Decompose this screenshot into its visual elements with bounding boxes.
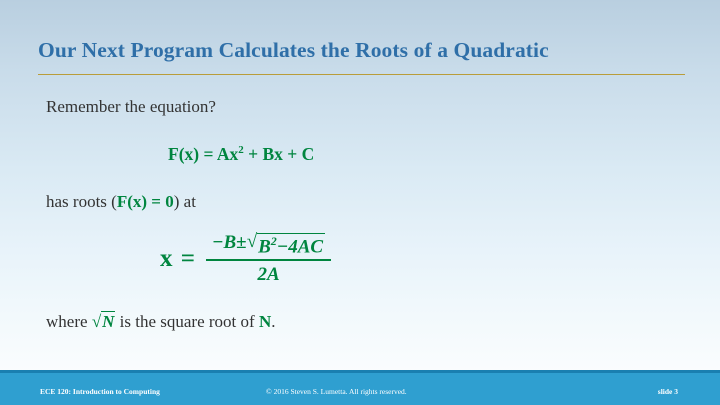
body-line-remember: Remember the equation?: [46, 97, 216, 117]
page-title: Our Next Program Calculates the Roots of…: [38, 38, 688, 63]
has-roots-highlight: F(x) = 0: [117, 192, 174, 211]
quadratic-formula: x = −B± √ B2−4AC 2A: [160, 232, 331, 286]
where-prefix: where: [46, 312, 92, 331]
footer-course: ECE 120: Introduction to Computing: [40, 387, 160, 396]
formula-lhs: x =: [160, 245, 196, 273]
where-var: N: [259, 312, 271, 331]
has-roots-prefix: has roots (: [46, 192, 117, 211]
where-post: .: [271, 312, 275, 331]
body-line-has-roots: has roots (F(x) = 0) at: [46, 192, 196, 212]
equation-quadratic-lead: F(x) = Ax: [168, 144, 238, 164]
formula-fraction: −B± √ B2−4AC 2A: [206, 232, 331, 286]
radical-sign-icon: √: [247, 232, 257, 258]
slide: Our Next Program Calculates the Roots of…: [0, 0, 720, 405]
title-divider: [38, 74, 685, 75]
sqrt-n-var: N: [101, 311, 115, 331]
footer-slide-number: slide 3: [658, 387, 678, 396]
numerator-lead: −B±: [212, 232, 247, 254]
radical-group: √ B2−4AC: [247, 232, 325, 258]
radicand: B2−4AC: [257, 233, 325, 258]
sqrt-symbol-icon: √: [92, 312, 101, 331]
has-roots-suffix: ) at: [174, 192, 196, 211]
body-line-where: where √N is the square root of N.: [46, 312, 275, 332]
footer-copyright: © 2016 Steven S. Lumetta. All rights res…: [266, 387, 407, 396]
radicand-tail: −4AC: [277, 236, 323, 257]
radicand-lead: B: [258, 236, 271, 257]
sqrt-n-inline: √N: [92, 311, 116, 331]
formula-numerator: −B± √ B2−4AC: [206, 232, 331, 259]
formula-denominator: 2A: [257, 261, 279, 286]
where-mid: is the square root of: [115, 312, 259, 331]
equation-quadratic-tail: + Bx + C: [244, 144, 315, 164]
equation-quadratic: F(x) = Ax2 + Bx + C: [168, 144, 314, 165]
